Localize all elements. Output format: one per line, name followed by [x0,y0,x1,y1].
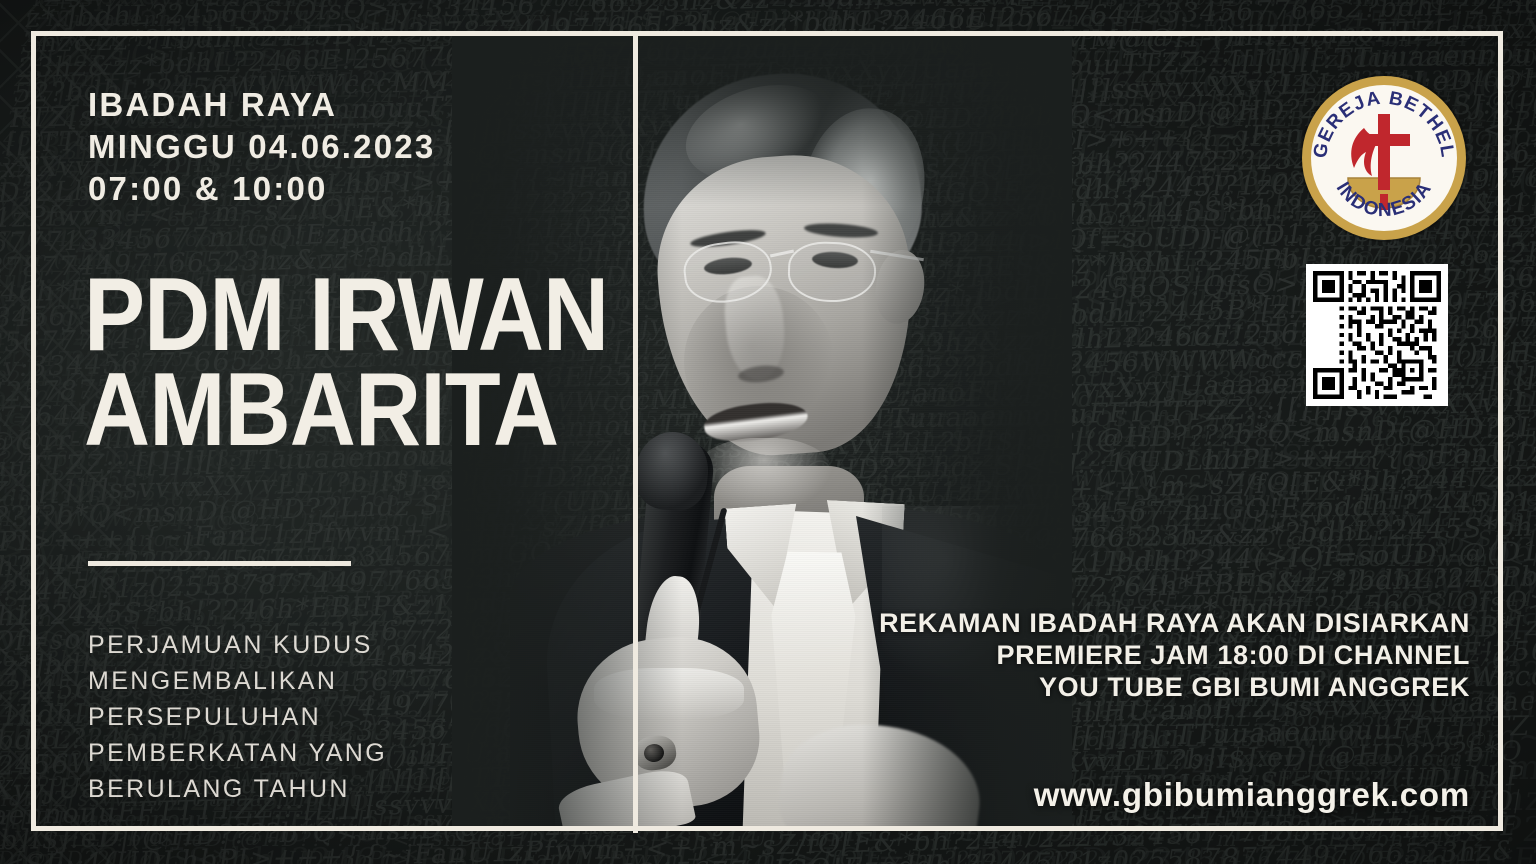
left-column: IBADAH RAYA MINGGU 04.06.2023 07:00 & 10… [0,0,633,864]
poster-canvas: fQ[E&*bh?244722223245677713345677mIGQ!Ez… [0,0,1536,864]
right-column: GEREJA BETHEL INDONESIA [633,0,1536,864]
announcement-line-2: PREMIERE JAM 18:00 DI CHANNEL [830,639,1470,671]
service-header-line-1: IBADAH RAYA [88,84,435,126]
speaker-name-line-2: AMBARITA [84,363,608,458]
horizontal-rule [88,561,351,566]
topic-line-3: PERSEPULUHAN [88,699,387,735]
topic-list: PERJAMUAN KUDUS MENGEMBALIKAN PERSEPULUH… [88,627,387,807]
topic-line-4: PEMBERKATAN YANG [88,735,387,771]
topic-line-1: PERJAMUAN KUDUS [88,627,387,663]
topic-line-2: MENGEMBALIKAN [88,663,387,699]
gbi-logo: GEREJA BETHEL INDONESIA [1302,76,1466,240]
broadcast-announcement: REKAMAN IBADAH RAYA AKAN DISIARKAN PREMI… [830,607,1470,703]
service-header: IBADAH RAYA MINGGU 04.06.2023 07:00 & 10… [88,84,435,210]
website-url[interactable]: www.gbibumianggrek.com [1034,776,1470,814]
qr-code[interactable] [1306,264,1448,406]
qr-code-matrix [1313,271,1441,399]
vertical-divider [633,31,638,833]
service-header-line-3: 07:00 & 10:00 [88,168,435,210]
gbi-logo-artwork: GEREJA BETHEL INDONESIA [1302,76,1466,240]
speaker-name: PDM IRWAN AMBARITA [84,268,680,458]
announcement-line-1: REKAMAN IBADAH RAYA AKAN DISIARKAN [830,607,1470,639]
service-header-line-2: MINGGU 04.06.2023 [88,126,435,168]
speaker-name-line-1: PDM IRWAN [84,268,608,363]
announcement-line-3: YOU TUBE GBI BUMI ANGGREK [830,671,1470,703]
topic-line-5: BERULANG TAHUN [88,771,387,807]
